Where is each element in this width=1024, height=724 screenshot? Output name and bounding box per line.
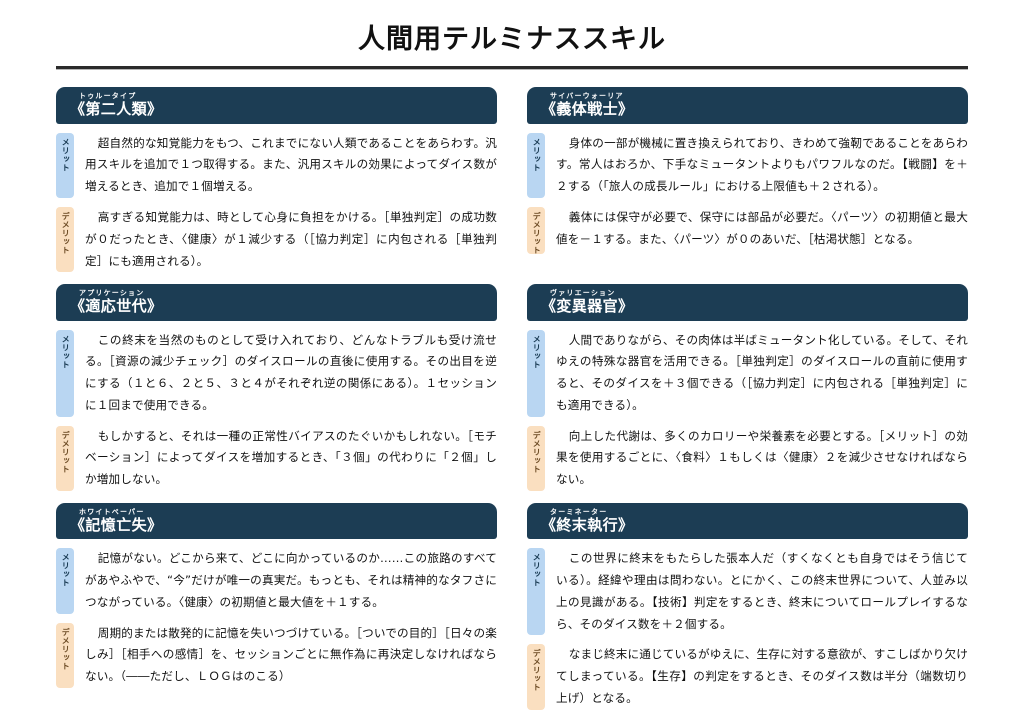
demerit-tab-label: デメリット: [532, 431, 540, 474]
demerit-text: もしかすると、それは一種の正常性バイアスのたぐいかもしれない。［モチベーション］…: [74, 426, 497, 491]
skill-ruby: ヴァリエーション: [550, 290, 958, 297]
skill-card-header: サイバーウォーリア 《義体戦士》: [527, 87, 968, 123]
demerit-text: なまじ終末に通じているがゆえに、生存に対する意欲が、すこしばかり欠けてしまってい…: [545, 644, 968, 709]
title-divider: [56, 66, 968, 70]
skill-card: トゥルータイプ 《第二人類》 メリット 超自然的な知覚能力をもつ、これまでにない…: [56, 87, 497, 272]
demerit-tab: デメリット: [56, 207, 74, 272]
demerit-tab-label: デメリット: [532, 649, 540, 692]
skill-card: アプリケーション 《適応世代》 メリット この終末を当然のものとして受け入れてお…: [56, 284, 497, 491]
skill-ruby: ターミネーター: [550, 509, 958, 516]
demerit-text: 周期的または散発的に記憶を失いつづけている。［ついでの目的］［日々の楽しみ］［相…: [74, 623, 497, 688]
merit-section: メリット 記憶がない。どこから来て、どこに向かっているのか……この旅路のすべてが…: [56, 548, 497, 613]
skill-card-header: アプリケーション 《適応世代》: [56, 284, 497, 320]
merit-tab-label: メリット: [532, 138, 540, 172]
demerit-text: 向上した代謝は、多くのカロリーや栄養素を必要とする。［メリット］の効果を使用する…: [545, 426, 968, 491]
skill-card-header: ホワイトペーパー 《記憶亡失》: [56, 503, 497, 539]
merit-tab-label: メリット: [61, 138, 69, 172]
merit-text: この世界に終末をもたらした張本人だ（すくなくとも自身ではそう信じている）。経緯や…: [545, 548, 968, 635]
skill-name: 《義体戦士》: [541, 101, 958, 118]
title-block: 人間用テルミナススキル: [0, 0, 1024, 70]
skill-card-header: ターミネーター 《終末執行》: [527, 503, 968, 539]
demerit-tab-label: デメリット: [532, 212, 540, 255]
merit-tab-label: メリット: [532, 553, 540, 587]
skill-name: 《適応世代》: [70, 298, 487, 315]
page-root: 人間用テルミナススキル トゥルータイプ 《第二人類》 メリット 超自然的な知覚能…: [0, 0, 1024, 724]
skill-card: ヴァリエーション 《変異器官》 メリット 人間でありながら、その肉体は半ばミュー…: [527, 284, 968, 491]
skill-card-header: ヴァリエーション 《変異器官》: [527, 284, 968, 320]
demerit-section: デメリット 義体には保守が必要で、保守には部品が必要だ。〈パーツ〉の初期値と最大…: [527, 207, 968, 255]
merit-section: メリット この世界に終末をもたらした張本人だ（すくなくとも自身ではそう信じている…: [527, 548, 968, 635]
merit-section: メリット 人間でありながら、その肉体は半ばミュータント化している。そして、それゆ…: [527, 330, 968, 417]
skill-ruby: サイバーウォーリア: [550, 93, 958, 100]
demerit-tab-label: デメリット: [61, 431, 69, 474]
skill-ruby: ホワイトペーパー: [79, 509, 487, 516]
demerit-text: 高すぎる知覚能力は、時として心身に負担をかける。［単独判定］の成功数が０だったと…: [74, 207, 497, 272]
skill-card-grid: トゥルータイプ 《第二人類》 メリット 超自然的な知覚能力をもつ、これまでにない…: [56, 87, 968, 709]
merit-section: メリット この終末を当然のものとして受け入れており、どんなトラブルも受け流せる。…: [56, 330, 497, 417]
skill-name: 《変異器官》: [541, 298, 958, 315]
merit-text: この終末を当然のものとして受け入れており、どんなトラブルも受け流せる。［資源の減…: [74, 330, 497, 417]
demerit-section: デメリット もしかすると、それは一種の正常性バイアスのたぐいかもしれない。［モチ…: [56, 426, 497, 491]
demerit-section: デメリット 高すぎる知覚能力は、時として心身に負担をかける。［単独判定］の成功数…: [56, 207, 497, 272]
demerit-section: デメリット なまじ終末に通じているがゆえに、生存に対する意欲が、すこしばかり欠け…: [527, 644, 968, 709]
demerit-text: 義体には保守が必要で、保守には部品が必要だ。〈パーツ〉の初期値と最大値を－１する…: [545, 207, 968, 255]
merit-tab: メリット: [56, 330, 74, 417]
skill-name: 《記憶亡失》: [70, 517, 487, 534]
demerit-section: デメリット 向上した代謝は、多くのカロリーや栄養素を必要とする。［メリット］の効…: [527, 426, 968, 491]
merit-tab: メリット: [56, 548, 74, 613]
demerit-tab-label: デメリット: [61, 212, 69, 255]
merit-tab-label: メリット: [61, 553, 69, 587]
page-title: 人間用テルミナススキル: [0, 24, 1024, 56]
skill-card: ホワイトペーパー 《記憶亡失》 メリット 記憶がない。どこから来て、どこに向かっ…: [56, 503, 497, 710]
merit-text: 身体の一部が機械に置き換えられており、きわめて強靭であることをあらわす。常人はお…: [545, 133, 968, 198]
demerit-tab: デメリット: [527, 644, 545, 709]
merit-text: 人間でありながら、その肉体は半ばミュータント化している。そして、それゆえの特殊な…: [545, 330, 968, 417]
merit-tab: メリット: [527, 330, 545, 417]
skill-card-header: トゥルータイプ 《第二人類》: [56, 87, 497, 123]
demerit-section: デメリット 周期的または散発的に記憶を失いつづけている。［ついでの目的］［日々の…: [56, 623, 497, 688]
demerit-tab-label: デメリット: [61, 628, 69, 671]
merit-tab-label: メリット: [532, 335, 540, 369]
merit-tab: メリット: [527, 133, 545, 198]
skill-name: 《第二人類》: [70, 101, 487, 118]
demerit-tab: デメリット: [56, 426, 74, 491]
skill-card: サイバーウォーリア 《義体戦士》 メリット 身体の一部が機械に置き換えられており…: [527, 87, 968, 272]
skill-name: 《終末執行》: [541, 517, 958, 534]
demerit-tab: デメリット: [56, 623, 74, 688]
merit-text: 記憶がない。どこから来て、どこに向かっているのか……この旅路のすべてがあやふやで…: [74, 548, 497, 613]
demerit-tab: デメリット: [527, 426, 545, 491]
merit-tab: メリット: [56, 133, 74, 198]
merit-tab: メリット: [527, 548, 545, 635]
demerit-tab: デメリット: [527, 207, 545, 255]
merit-text: 超自然的な知覚能力をもつ、これまでにない人類であることをあらわす。汎用スキルを追…: [74, 133, 497, 198]
skill-ruby: アプリケーション: [79, 290, 487, 297]
skill-ruby: トゥルータイプ: [79, 93, 487, 100]
merit-section: メリット 超自然的な知覚能力をもつ、これまでにない人類であることをあらわす。汎用…: [56, 133, 497, 198]
merit-section: メリット 身体の一部が機械に置き換えられており、きわめて強靭であることをあらわす…: [527, 133, 968, 198]
merit-tab-label: メリット: [61, 335, 69, 369]
skill-card: ターミネーター 《終末執行》 メリット この世界に終末をもたらした張本人だ（すく…: [527, 503, 968, 710]
